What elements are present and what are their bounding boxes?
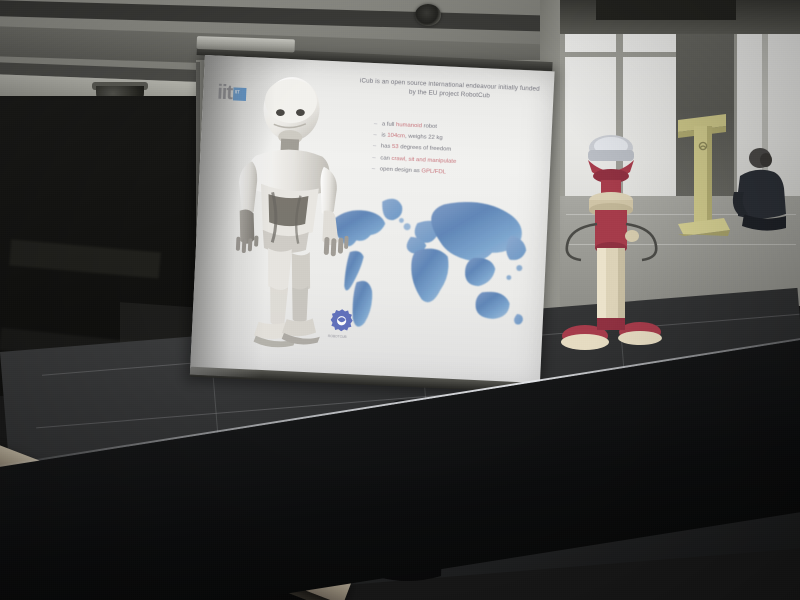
window-transom (560, 52, 690, 57)
projection-screen-surface: iit IIT iCub is an open source internati… (190, 55, 555, 391)
bullet-prefix: has (381, 144, 392, 151)
robotcub-logo: ROBOTCUB (327, 307, 369, 349)
projection-screen: iit IIT iCub is an open source internati… (190, 55, 555, 391)
glass-wall-header-dark (596, 0, 736, 20)
bullet-prefix: open design as (380, 166, 422, 174)
bullet-highlight: crawl, sit and manipulate (391, 156, 456, 165)
bullet-prefix: a full (382, 121, 396, 128)
bullet-highlight: 104cm (387, 133, 405, 140)
column-sculpture (552, 132, 670, 358)
dark-wall-highlight-upper (9, 240, 161, 279)
bullet-prefix: can (380, 155, 391, 162)
slide-bullet-list: a full humanoid robot is 104cm, weighs 2… (372, 119, 549, 183)
slide-title: iCub is an open source international end… (355, 76, 544, 103)
person-seated (726, 142, 788, 234)
lectern (676, 112, 732, 244)
bullet-highlight: humanoid (396, 122, 422, 129)
bullet-highlight: GPL/FDL (421, 168, 446, 175)
bullet-suffix: , weighs 22 kg (405, 134, 443, 142)
bullet-suffix: robot (422, 123, 437, 130)
robotcub-caption: ROBOTCUB (328, 334, 368, 340)
screenshot-scene: iit IIT iCub is an open source internati… (0, 0, 800, 600)
ceiling-speaker-icon (415, 4, 441, 26)
bullet-suffix: degrees of freedom (398, 145, 451, 153)
presentation-slide: iit IIT iCub is an open source internati… (190, 55, 555, 391)
